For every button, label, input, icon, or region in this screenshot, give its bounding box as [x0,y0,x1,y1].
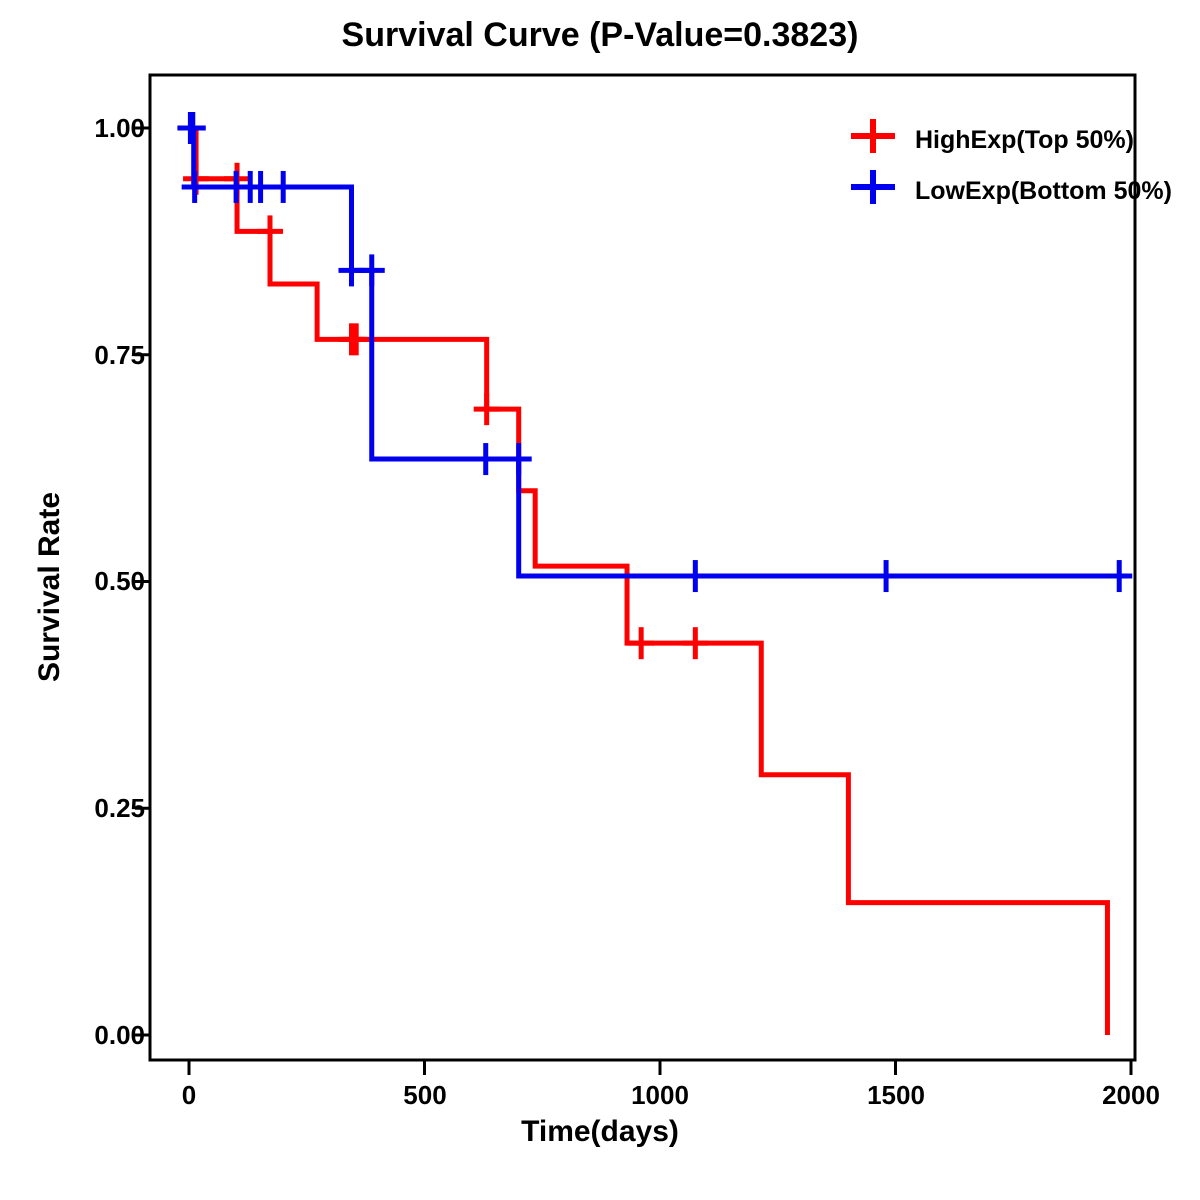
ytick-label-0: 0.00 [55,1020,145,1051]
legend-label-lowexp: LowExp(Bottom 50%) [915,177,1172,206]
series-layer [177,112,1132,1035]
ytick-label-075: 0.75 [55,340,145,371]
y-axis-title: Survival Rate [33,437,67,737]
legend-label-highexp: HighExp(Top 50%) [915,126,1134,155]
legend-markers [851,119,895,204]
ytick-label-1: 1.00 [55,113,145,144]
tick-marks [135,128,1131,1075]
censor-markers-highexp [183,163,708,659]
ytick-label-025: 0.25 [55,793,145,824]
x-axis-title: Time(days) [0,1115,1200,1149]
xtick-label-1500: 1500 [836,1080,956,1111]
ytick-label-05: 0.50 [55,566,145,597]
xtick-label-2000: 2000 [1071,1080,1191,1111]
series-line-highexp [189,128,1107,1035]
xtick-label-500: 500 [365,1080,485,1111]
xtick-label-1000: 1000 [600,1080,720,1111]
plot-border [150,75,1135,1060]
survival-chart-figure: Survival Curve (P-Value=0.3823) 1.00 0.7… [0,0,1200,1200]
xtick-label-0: 0 [129,1080,249,1111]
